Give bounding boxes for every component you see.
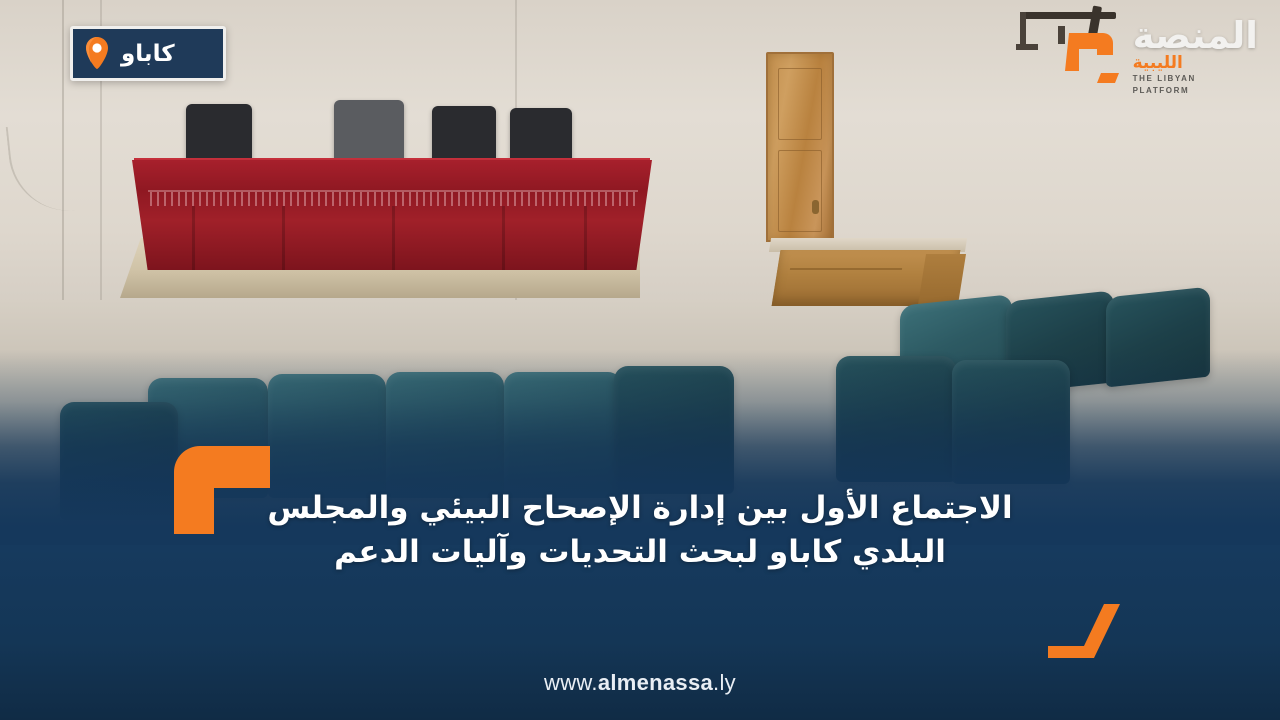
audience-chair xyxy=(268,374,386,498)
panel-chair xyxy=(334,100,404,166)
wooden-desk-seam xyxy=(790,268,902,270)
brand-name-arabic: المنصة xyxy=(1133,18,1258,54)
url-suffix: .ly xyxy=(713,670,736,695)
brand-wordmark: المنصة الليبية THE LIBYAN PLATFORM xyxy=(1133,18,1258,96)
brand-name-english-line1: THE LIBYAN xyxy=(1133,74,1196,84)
orange-bracket-decor-icon xyxy=(172,442,272,538)
panel-chair xyxy=(186,104,252,166)
ceiling-light-foot xyxy=(1016,44,1038,50)
audience-chair xyxy=(614,366,734,494)
brand-name-english-line2: PLATFORM xyxy=(1133,86,1190,96)
audience-chair xyxy=(1106,287,1210,388)
audience-chair xyxy=(836,356,956,482)
panel-chair xyxy=(432,106,496,166)
website-url[interactable]: www.almenassa.ly xyxy=(0,670,1280,696)
wooden-door xyxy=(766,52,834,242)
audience-chair xyxy=(504,372,622,498)
url-prefix: www. xyxy=(544,670,598,695)
orange-bracket-logo-icon xyxy=(1063,29,1125,87)
audience-chair xyxy=(386,372,504,498)
audience-chair xyxy=(952,360,1070,484)
red-table-cloth xyxy=(132,160,652,270)
news-card: كاباو المنصة الليبية THE LIBYAN PLATFORM xyxy=(0,0,1280,720)
table-fringe xyxy=(150,192,636,206)
ceiling-light-drop xyxy=(1020,12,1026,46)
map-pin-icon xyxy=(83,36,111,72)
orange-check-decor-icon xyxy=(1046,602,1124,660)
location-badge[interactable]: كاباو xyxy=(70,26,226,81)
url-main: almenassa xyxy=(598,670,713,695)
brand-logo[interactable]: المنصة الليبية THE LIBYAN PLATFORM xyxy=(1063,18,1258,96)
door-handle-icon xyxy=(812,200,819,214)
brand-subtitle-arabic: الليبية xyxy=(1133,55,1183,72)
location-label: كاباو xyxy=(121,41,175,67)
